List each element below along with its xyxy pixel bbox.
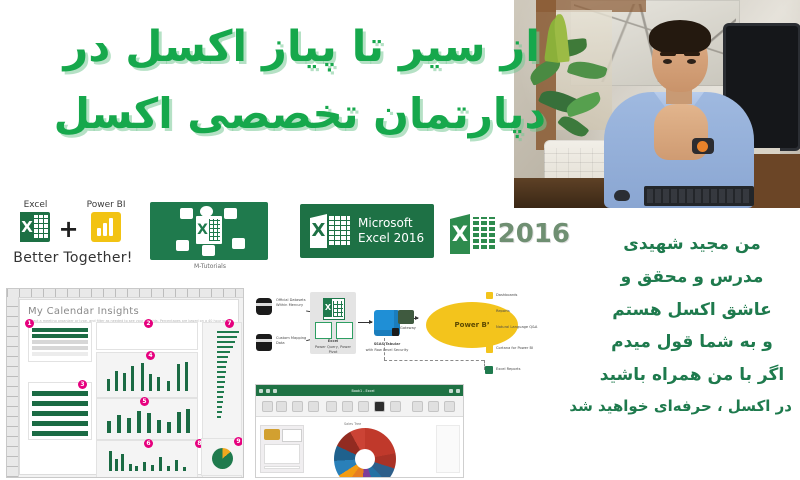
ms-excel-line-2: Excel 2016 xyxy=(358,231,424,246)
dotted-connector xyxy=(484,360,485,370)
excel-icon: X xyxy=(310,214,350,248)
titlebar-dot xyxy=(273,389,277,393)
bio-line-5: اگر با من همراه باشید xyxy=(592,359,792,392)
pie-chart-organizer-attendee xyxy=(212,448,233,469)
ribbon-icon[interactable] xyxy=(358,401,369,412)
instructor-photo xyxy=(514,0,800,208)
powerbi-label: Power BI xyxy=(87,200,126,210)
better-together-tagline: Better Together! xyxy=(8,250,138,266)
power-query-icon xyxy=(315,322,332,339)
database-icon xyxy=(256,298,272,315)
dotted-connector xyxy=(384,338,385,360)
ribbon-icon[interactable] xyxy=(308,401,319,412)
arch-excel-box: X Excel Power Query, Power Pivot xyxy=(310,292,356,354)
reports-bullet-icon xyxy=(486,308,493,315)
instructor-bio-text: من مجید شهیدی مدرس و محقق و عاشق اکسل هس… xyxy=(592,228,792,421)
excel-grid xyxy=(33,215,48,239)
logo-excel-2016: X 2016 xyxy=(450,206,570,262)
shield-icon xyxy=(256,334,272,351)
excel-icon: X xyxy=(450,214,490,254)
excel-icon: X xyxy=(323,298,345,320)
powerbi-architecture-diagram: Official Datasets Within Mercury Custom … xyxy=(248,286,558,396)
logo-microsoft-excel-2016: X Microsoft Excel 2016 xyxy=(300,204,434,260)
bio-line-2: مدرس و محقق و xyxy=(592,261,792,294)
plus-sign: + xyxy=(58,212,78,246)
power-bi-cloud-label: Power BI xyxy=(455,321,490,329)
ribbon-icon[interactable] xyxy=(342,401,353,412)
excel-year-label: 2016 xyxy=(498,219,570,249)
sunburst-chart-title: Sales Tree xyxy=(344,422,361,426)
headline-line-1: از سیر تا پیاز اکسل در xyxy=(20,14,540,81)
arch-source-1-label: Official Datasets Within Mercury xyxy=(276,298,310,308)
bio-line-4: و به شما قول میدم xyxy=(592,326,792,359)
excel-x-letter: X xyxy=(450,214,470,254)
excel-label: Excel xyxy=(20,200,50,210)
report-card-panel xyxy=(260,425,304,473)
excel-ribbon[interactable] xyxy=(256,396,463,417)
ribbon-icon[interactable] xyxy=(428,401,439,412)
table-block xyxy=(264,444,300,464)
arch-output-reports: Reports xyxy=(496,309,510,314)
logo-thumb xyxy=(264,429,280,440)
ms-excel-text: Microsoft Excel 2016 xyxy=(358,216,424,246)
power-pivot-icon xyxy=(336,322,353,339)
logo-strip: Excel Excel X + Power BI Better Together… xyxy=(0,196,595,286)
person-eyebrow xyxy=(660,52,676,56)
titlebar-dot xyxy=(449,389,453,393)
titlebar-dot xyxy=(456,389,460,393)
ribbon-icon[interactable] xyxy=(276,401,287,412)
excel-icon xyxy=(196,216,222,244)
excel-icon: Excel X xyxy=(20,212,50,242)
excel-titlebar: Book1 - Excel xyxy=(256,385,463,396)
dotted-connector xyxy=(384,360,484,361)
arch-output-qna: Natural Language Q&A xyxy=(496,325,537,330)
arrow-icon xyxy=(358,322,372,323)
bio-line-3: عاشق اکسل هستم xyxy=(592,294,792,327)
arch-excel-sublabel: Power Query, Power Pivot xyxy=(310,345,356,355)
document-mini-icon xyxy=(232,238,245,249)
ribbon-icon[interactable] xyxy=(326,401,337,412)
wristwatch-icon xyxy=(692,138,714,154)
arch-cube-label: SSAS Tabular xyxy=(364,342,410,347)
table-mini-icon xyxy=(202,245,215,256)
excel-grid xyxy=(328,216,350,246)
arch-excel-label: Excel xyxy=(310,339,356,344)
arch-source-2-label: Custom Mapping Data xyxy=(276,336,310,346)
person-eye xyxy=(663,59,672,64)
ribbon-icon[interactable] xyxy=(390,401,401,412)
dashboards-bullet-icon xyxy=(486,292,493,299)
gear-mini-icon xyxy=(176,240,189,251)
titlebar-dot xyxy=(266,389,270,393)
person-eye xyxy=(687,59,696,64)
ribbon-icon[interactable] xyxy=(262,401,273,412)
desk-cabinet xyxy=(750,154,800,208)
ribbon-icon[interactable] xyxy=(374,401,385,412)
excel-grid xyxy=(471,217,496,251)
database-mini-icon xyxy=(180,208,193,219)
ribbon-icon[interactable] xyxy=(444,401,455,412)
ms-excel-box: X Microsoft Excel 2016 xyxy=(300,204,434,258)
power-bi-icon xyxy=(91,212,121,242)
excel-window-title: Book1 - Excel xyxy=(280,389,446,393)
ms-excel-line-1: Microsoft xyxy=(358,216,424,231)
arch-output-excel-reports: Excel Reports xyxy=(496,367,520,372)
excel-x-letter: X xyxy=(310,214,327,248)
excel-window-screenshot: Book1 - Excel Sales T xyxy=(255,384,464,478)
excel-tutorials-box xyxy=(150,202,268,260)
logo-better-together: Excel Excel X + Power BI Better Together… xyxy=(8,200,138,280)
cortana-bullet-icon xyxy=(486,341,493,353)
person-hair xyxy=(649,20,711,54)
side-panel xyxy=(436,425,460,473)
headline: از سیر تا پیاز اکسل در دپارتمان تخصصی اک… xyxy=(20,14,540,146)
headline-line-2: دپارتمان تخصصی اکسل xyxy=(20,81,546,146)
titlebar-dot xyxy=(259,389,263,393)
poster-canvas: از سیر تا پیاز اکسل در دپارتمان تخصصی اک… xyxy=(0,0,800,480)
arch-gateway-label: Gateway xyxy=(392,326,424,331)
title-block xyxy=(282,429,302,442)
keyboard-icon xyxy=(644,186,754,206)
bio-line-6: در اکسل ، حرفه‌ای خواهید شد xyxy=(592,392,792,421)
sunburst-chart xyxy=(334,428,396,478)
table-block xyxy=(264,466,300,469)
excel-grid-area: Sales Tree xyxy=(256,422,463,477)
ribbon-icon[interactable] xyxy=(412,401,423,412)
arch-output-dashboards: Dashboards xyxy=(496,293,517,298)
ribbon-icon[interactable] xyxy=(292,401,303,412)
calendar-insights-pie-overlay: 9 xyxy=(6,288,242,476)
arch-output-cortana: Cortana for Power BI xyxy=(496,346,533,351)
arch-cube-sublabel: with Row Level Security xyxy=(364,348,410,353)
chart-mini-icon xyxy=(224,208,237,219)
excel-x-glyph: X xyxy=(20,212,33,242)
qna-bullet-icon xyxy=(486,324,493,331)
gateway-icon xyxy=(398,310,414,324)
logo-excel-tutorials: M-Tutorials xyxy=(150,202,270,276)
mouse-icon xyxy=(614,190,630,201)
excel-tutorials-caption: M-Tutorials xyxy=(150,263,270,270)
person-eyebrow xyxy=(684,52,700,56)
excel-reports-icon xyxy=(485,366,493,374)
badge-9: 9 xyxy=(234,437,242,446)
bio-line-1: من مجید شهیدی xyxy=(592,228,792,261)
